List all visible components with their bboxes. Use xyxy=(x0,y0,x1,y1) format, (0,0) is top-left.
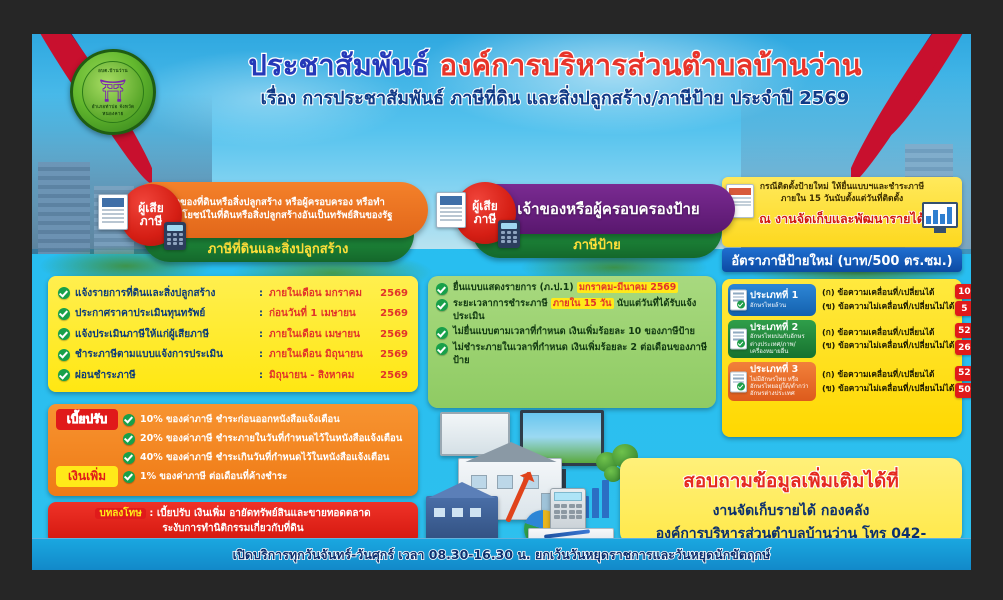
table-row: แจ้งประเมินภาษีให้แก่ผู้เสียภาษี : ภายใน… xyxy=(58,324,408,345)
land-tax-schedule-panel: แจ้งรายการที่ดินและสิ่งปลูกสร้าง : ภายใน… xyxy=(48,276,418,392)
schedule-separator: : xyxy=(259,329,269,340)
taxpayer-description-right: เจ้าของหรือผู้ครอบครองป้าย xyxy=(517,200,699,218)
check-icon xyxy=(58,349,70,361)
schedule-year: 2569 xyxy=(374,329,408,340)
note-text: ไม่ชำระภายในเวลาที่กำหนด เงินเพิ่มร้อยละ… xyxy=(453,342,708,367)
document-icon-left xyxy=(98,194,128,230)
rate-line: (ก) ข้อความเคลื่อนที่/เปลี่ยนได้ xyxy=(822,286,954,300)
signboard-tax-notes-panel: ยื่นแบบแสดงรายการ (ภ.ป.1) มกราคม-มีนาคม … xyxy=(428,276,716,408)
document-icon-right xyxy=(436,192,466,228)
category-tag-3: ประเภทที่ 3 ไม่มีอักษรไทย หรืออักษรไทยอย… xyxy=(728,362,816,400)
list-item: 20% ของค่าภาษี ชำระภายในวันที่กำหนดไว้ใน… xyxy=(56,429,410,448)
check-icon xyxy=(58,369,70,381)
poster-title-block: ประชาสัมพันธ์ องค์การบริหารส่วนตำบลบ้านว… xyxy=(160,50,950,112)
category-values-3: 52 50 xyxy=(954,362,971,400)
rate-line: (ก) ข้อความเคลื่อนที่/เปลี่ยนได้ xyxy=(822,368,954,382)
penalty-text: 20% ของค่าภาษี ชำระภายในวันที่กำหนดไว้ใน… xyxy=(140,431,402,446)
category-detail: อักษรไทยล้วน xyxy=(750,302,812,309)
table-row: แจ้งรายการที่ดินและสิ่งปลูกสร้าง : ภายใน… xyxy=(58,283,408,304)
penalty-tag-surcharge: เงินเพิ่ม xyxy=(56,466,118,487)
check-icon xyxy=(436,299,448,311)
new-signboard-line3: ณ งานจัดเก็บและพัฒนารายได้ xyxy=(730,209,954,229)
check-icon xyxy=(123,452,135,464)
list-item: เบี้ยปรับ 10% ของค่าภาษี ชำระก่อนออกหนัง… xyxy=(56,410,410,429)
penalty-tag-spacer xyxy=(56,457,118,459)
contact-panel: สอบถามข้อมูลเพิ่มเติมได้ที่ งานจัดเก็บรา… xyxy=(620,458,962,544)
category-name: ประเภทที่ 1 xyxy=(750,291,812,301)
category-name: ประเภทที่ 2 xyxy=(750,323,812,333)
punishment-line2: ระงับการทำนิติกรรมเกี่ยวกับที่ดิน xyxy=(56,521,410,536)
check-icon xyxy=(436,283,448,295)
category-detail: ไม่มีอักษรไทย หรืออักษรไทยอยู่ใต้/ต่ำกว่… xyxy=(750,376,812,398)
table-row: ผ่อนชำระภาษี : มิถุนายน - สิงหาคม 2569 xyxy=(58,365,408,386)
check-icon xyxy=(123,433,135,445)
note-highlight: มกราคม-มีนาคม 2569 xyxy=(577,282,678,293)
schedule-separator: : xyxy=(259,349,269,360)
schedule-when: ก่อนวันที่ 1 เมษายน xyxy=(269,306,374,321)
rate-value-badge: 52 xyxy=(955,366,971,381)
signboard-rate-table: ประเภทที่ 1 อักษรไทยล้วน (ก) ข้อความเคลื… xyxy=(722,279,962,437)
emblem-bottom-text: อำเภอท่าบ่อ จังหวัดหนองคาย xyxy=(83,103,143,117)
service-hours-text: เปิดบริการทุกวันจันทร์-วันศุกร์ เวลา 08.… xyxy=(233,545,771,565)
category-lines-1: (ก) ข้อความเคลื่อนที่/เปลี่ยนได้ (ข) ข้อ… xyxy=(816,284,954,316)
table-row: ประเภทที่ 3 ไม่มีอักษรไทย หรืออักษรไทยอย… xyxy=(728,362,956,400)
check-icon xyxy=(436,343,448,355)
check-icon xyxy=(436,327,448,339)
penalty-panel: เบี้ยปรับ 10% ของค่าภาษี ชำระก่อนออกหนัง… xyxy=(48,404,418,496)
table-row: ประกาศราคาประเมินทุนทรัพย์ : ก่อนวันที่ … xyxy=(58,304,408,325)
note-pre: ยื่นแบบแสดงรายการ (ภ.ป.1) xyxy=(453,282,577,293)
table-row: ประเภทที่ 1 อักษรไทยล้วน (ก) ข้อความเคลื… xyxy=(728,284,956,316)
category-lines-2: (ก) ข้อความเคลื่อนที่/เปลี่ยนได้ (ข) ข้อ… xyxy=(816,320,954,358)
schedule-separator: : xyxy=(259,308,269,319)
schedule-label: ผ่อนชำระภาษี xyxy=(75,368,259,383)
category-tag-1: ประเภทที่ 1 อักษรไทยล้วน xyxy=(728,284,816,316)
contact-heading: สอบถามข้อมูลเพิ่มเติมได้ที่ xyxy=(630,466,952,496)
schedule-when: มิถุนายน - สิงหาคม xyxy=(269,368,374,383)
list-item: 40% ของค่าภาษี ชำระเกินวันที่กำหนดไว้ในห… xyxy=(56,448,410,467)
rate-line: (ข) ข้อความไม่เคลื่อนที่/เปลี่ยนไม่ได้ xyxy=(822,382,954,396)
note-text: ระยะเวลาการชำระภาษี ภายใน 15 วัน นับแต่ว… xyxy=(453,298,708,323)
taxpayer-description-left: เจ้าของที่ดินหรือสิ่งปลูกสร้าง หรือผู้คร… xyxy=(166,197,418,222)
schedule-separator: : xyxy=(259,288,269,299)
emblem-top-text: อบต.บ้านว่าน xyxy=(83,67,143,74)
schedule-label: ชำระภาษีตามแบบแจ้งการประเมิน xyxy=(75,347,259,362)
table-row: ชำระภาษีตามแบบแจ้งการประเมิน : ภายในเดือ… xyxy=(58,345,408,366)
table-row: ประเภทที่ 2 อักษรไทยปนกับอักษรต่างประเทศ… xyxy=(728,320,956,358)
organization-emblem-icon: อบต.บ้านว่าน ⛩ อำเภอท่าบ่อ จังหวัดหนองคา… xyxy=(70,49,156,135)
category-detail: อักษรไทยปนกับอักษรต่างประเทศ/ภาพ/เครื่อง… xyxy=(750,333,812,355)
check-icon xyxy=(58,287,70,299)
rate-value-badge: 5 xyxy=(955,301,971,316)
central-illustration xyxy=(424,410,640,550)
penalty-text: 10% ของค่าภาษี ชำระก่อนออกหนังสือแจ้งเตื… xyxy=(140,412,340,427)
list-item: เงินเพิ่ม 1% ของค่าภาษี ต่อเดือนที่ค้างช… xyxy=(56,467,410,486)
clipboard-check-icon xyxy=(730,371,747,392)
note-highlight: ภายใน 15 วัน xyxy=(551,298,614,309)
category-lines-3: (ก) ข้อความเคลื่อนที่/เปลี่ยนได้ (ข) ข้อ… xyxy=(816,362,954,400)
taxpayer-badge-line1-left: ผู้เสีย xyxy=(138,202,164,215)
punishment-tag: บทลงโทษ xyxy=(95,508,146,519)
schedule-year: 2569 xyxy=(374,288,408,299)
rate-line: (ก) ข้อความเคลื่อนที่/เปลี่ยนได้ xyxy=(822,326,954,340)
category-name: ประเภทที่ 3 xyxy=(750,365,812,375)
schedule-when: ภายในเดือน เมษายน xyxy=(269,327,374,342)
list-item: ยื่นแบบแสดงรายการ (ภ.ป.1) มกราคม-มีนาคม … xyxy=(436,282,708,295)
note-text: ยื่นแบบแสดงรายการ (ภ.ป.1) มกราคม-มีนาคม … xyxy=(453,282,678,295)
category-tag-2: ประเภทที่ 2 อักษรไทยปนกับอักษรต่างประเทศ… xyxy=(728,320,816,358)
emblem-glyph-icon: ⛩ xyxy=(99,81,127,103)
check-icon xyxy=(58,308,70,320)
clipboard-check-icon xyxy=(730,290,747,311)
calculator-icon-right xyxy=(498,220,520,248)
schedule-year: 2569 xyxy=(374,370,408,381)
note-pre: ระยะเวลาการชำระภาษี xyxy=(453,298,551,309)
category-values-2: 52 26 xyxy=(954,320,971,358)
check-icon xyxy=(123,414,135,426)
rate-line: (ข) ข้อความไม่เคลื่อนที่/เปลี่ยนไม่ได้ xyxy=(822,339,954,353)
schedule-year: 2569 xyxy=(374,349,408,360)
taxpayer-badge-line1-right: ผู้เสีย xyxy=(472,200,498,213)
schedule-when: ภายในเดือน มิถุนายน xyxy=(269,347,374,362)
rate-value-badge: 52 xyxy=(955,323,971,338)
schedule-label: แจ้งรายการที่ดินและสิ่งปลูกสร้าง xyxy=(75,286,259,301)
schedule-year: 2569 xyxy=(374,308,408,319)
penalty-text: 40% ของค่าภาษี ชำระเกินวันที่กำหนดไว้ในห… xyxy=(140,450,389,465)
rate-value-badge: 50 xyxy=(955,383,971,398)
title-part-one: ประชาสัมพันธ์ xyxy=(248,48,439,82)
check-icon xyxy=(58,328,70,340)
penalty-tag-spacer xyxy=(56,438,118,440)
new-signboard-line2: ภายใน 15 วันนับตั้งแต่วันที่ติดตั้ง xyxy=(730,194,954,206)
check-icon xyxy=(123,471,135,483)
schedule-separator: : xyxy=(259,370,269,381)
new-signboard-line1: กรณีติดตั้งป้ายใหม่ ให้ยื่นแบบฯและชำระภา… xyxy=(730,182,954,194)
taxpayer-badge-line2-left: ภาษี xyxy=(140,215,163,228)
clipboard-check-icon xyxy=(730,329,747,350)
contact-line1: งานจัดเก็บรายได้ กองคลัง xyxy=(630,500,952,522)
page-subtitle: เรื่อง การประชาสัมพันธ์ ภาษีที่ดิน และสิ… xyxy=(160,83,950,112)
poster-canvas: อบต.บ้านว่าน ⛩ อำเภอท่าบ่อ จังหวัดหนองคา… xyxy=(32,34,971,570)
category-values-1: 10 5 xyxy=(954,284,971,316)
taxpayer-badge-line2-right: ภาษี xyxy=(474,213,497,226)
list-item: ไม่ยื่นแบบตามเวลาที่กำหนด เงินเพิ่มร้อยล… xyxy=(436,326,708,339)
schedule-label: แจ้งประเมินภาษีให้แก่ผู้เสียภาษี xyxy=(75,327,259,342)
schedule-when: ภายในเดือน มกราคม xyxy=(269,286,374,301)
title-part-two: องค์การบริหารส่วนตำบลบ้านว่าน xyxy=(440,48,862,82)
rate-value-badge: 10 xyxy=(955,284,971,299)
penalty-text: 1% ของค่าภาษี ต่อเดือนที่ค้างชำระ xyxy=(140,469,287,484)
penalty-tag-fine: เบี้ยปรับ xyxy=(56,409,118,430)
service-hours-footer: เปิดบริการทุกวันจันทร์-วันศุกร์ เวลา 08.… xyxy=(32,538,971,570)
rate-table-header: อัตราภาษีป้ายใหม่ (บาท/500 ตร.ซม.) xyxy=(722,248,962,272)
chart-monitor-icon xyxy=(922,202,958,234)
page-title: ประชาสัมพันธ์ องค์การบริหารส่วนตำบลบ้านว… xyxy=(160,50,950,81)
punishment-line1: : เบี้ยปรับ เงินเพิ่ม อายัดทรัพย์สินและข… xyxy=(149,508,370,519)
list-item: ระยะเวลาการชำระภาษี ภายใน 15 วัน นับแต่ว… xyxy=(436,298,708,323)
rate-line: (ข) ข้อความไม่เคลื่อนที่/เปลี่ยนไม่ได้ xyxy=(822,300,954,314)
calculator-icon-left xyxy=(164,222,186,250)
list-item: ไม่ชำระภายในเวลาที่กำหนด เงินเพิ่มร้อยละ… xyxy=(436,342,708,367)
punishment-line1-wrap: บทลงโทษ : เบี้ยปรับ เงินเพิ่ม อายัดทรัพย… xyxy=(56,506,410,521)
note-text: ไม่ยื่นแบบตามเวลาที่กำหนด เงินเพิ่มร้อยล… xyxy=(453,326,695,339)
schedule-label: ประกาศราคาประเมินทุนทรัพย์ xyxy=(75,306,259,321)
rate-value-badge: 26 xyxy=(955,340,971,355)
